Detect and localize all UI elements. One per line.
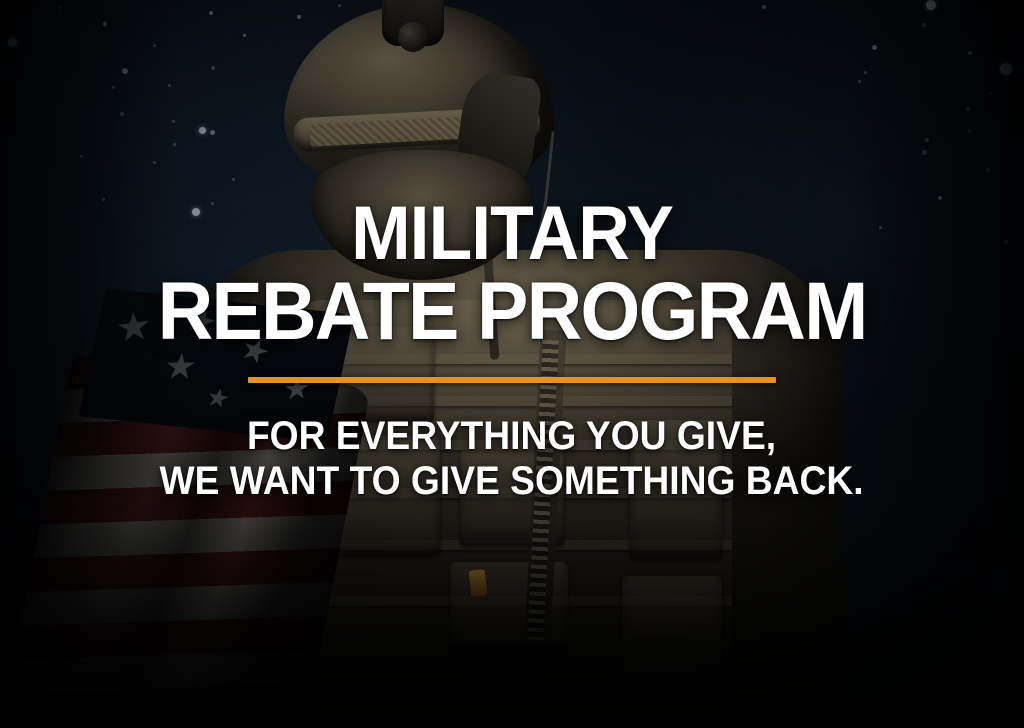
banner-headline: MILITARY REBATE PROGRAM — [158, 196, 867, 352]
headline-line-2: REBATE PROGRAM — [158, 271, 867, 352]
banner-subheading: FOR EVERYTHING YOU GIVE, WE WANT TO GIVE… — [160, 414, 864, 504]
subheading-line-1: FOR EVERYTHING YOU GIVE, — [160, 414, 864, 459]
subheading-line-2: WE WANT TO GIVE SOMETHING BACK. — [160, 459, 864, 504]
military-rebate-banner: ★ ★ ★ ★ ★ ★ MILITARY REBATE PROGRAM FOR … — [0, 0, 1024, 728]
orange-divider — [248, 377, 776, 383]
banner-content: MILITARY REBATE PROGRAM FOR EVERYTHING Y… — [0, 0, 1024, 728]
headline-line-1: MILITARY — [351, 191, 673, 276]
